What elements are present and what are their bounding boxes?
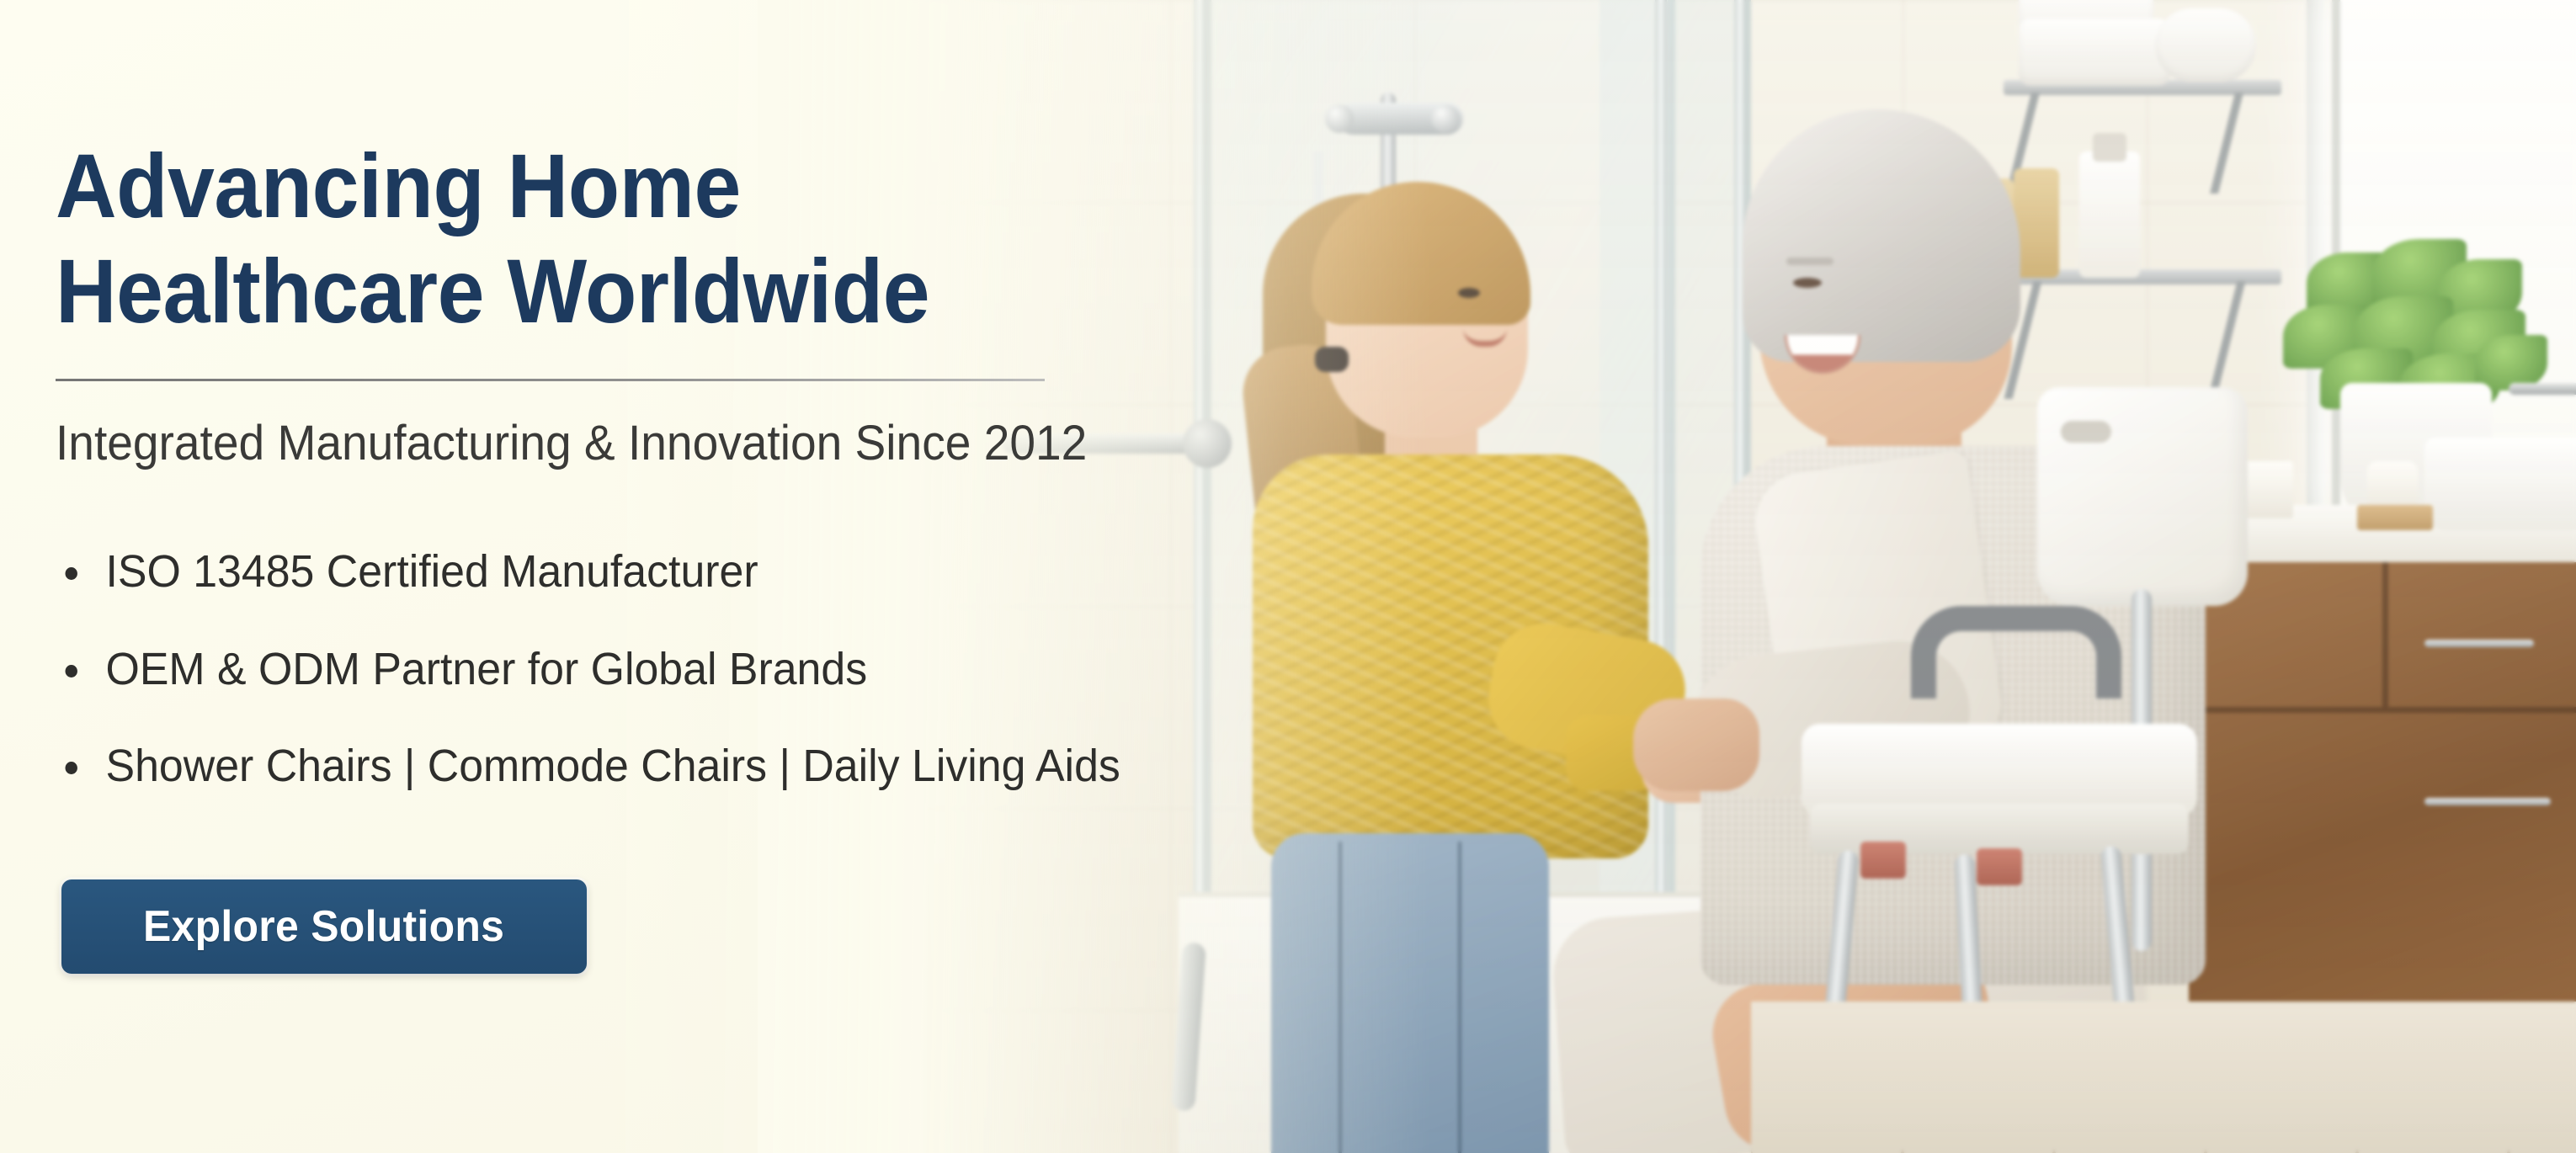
hero-subtitle: Integrated Manufacturing & Innovation Si… xyxy=(56,414,1087,473)
height-adjust-tab xyxy=(1860,842,1906,879)
headline-line-2: Healthcare Worldwide xyxy=(56,238,1035,343)
jeans-seam xyxy=(1458,842,1461,1153)
list-item: OEM & ODM Partner for Global Brands xyxy=(56,643,1106,697)
chair-armrest xyxy=(1911,606,2121,699)
cabinet-seam xyxy=(2382,562,2388,707)
list-item: Shower Chairs | Commode Chairs | Daily L… xyxy=(56,740,1106,794)
chair-backrest xyxy=(2037,387,2248,606)
drawer-handle xyxy=(2424,798,2551,805)
sink-basin xyxy=(2424,438,2576,530)
folded-towel xyxy=(2019,19,2170,86)
eye xyxy=(1793,278,1822,288)
headline-line-1: Advancing Home xyxy=(56,135,741,236)
title-divider xyxy=(56,379,1045,381)
floor-tile-lines xyxy=(1751,1002,2576,1153)
eyebrow xyxy=(1786,258,1834,265)
backrest-handle-slot xyxy=(2061,421,2111,443)
feature-list: ISO 13485 Certified Manufacturer OEM & O… xyxy=(56,545,1150,794)
wood-tray xyxy=(2357,505,2433,530)
rolled-towel xyxy=(2155,8,2256,82)
faucet xyxy=(2509,383,2576,395)
chair-seat xyxy=(1802,724,2197,816)
page-title: Advancing Home Healthcare Worldwide xyxy=(56,133,1035,344)
girl-eye xyxy=(1458,288,1480,298)
hero-content: Advancing Home Healthcare Worldwide Inte… xyxy=(0,0,1179,1153)
mixer-knob xyxy=(1431,104,1460,133)
grey-hair xyxy=(1743,109,2020,362)
explore-solutions-label: Explore Solutions xyxy=(143,901,504,952)
hand xyxy=(1633,699,1759,791)
list-item: ISO 13485 Certified Manufacturer xyxy=(56,545,1106,599)
explore-solutions-button[interactable]: Explore Solutions xyxy=(61,879,587,974)
cabinet-handle xyxy=(2424,640,2534,647)
hero-banner: Advancing Home Healthcare Worldwide Inte… xyxy=(0,0,2576,1153)
height-adjust-tab xyxy=(1977,848,2022,885)
